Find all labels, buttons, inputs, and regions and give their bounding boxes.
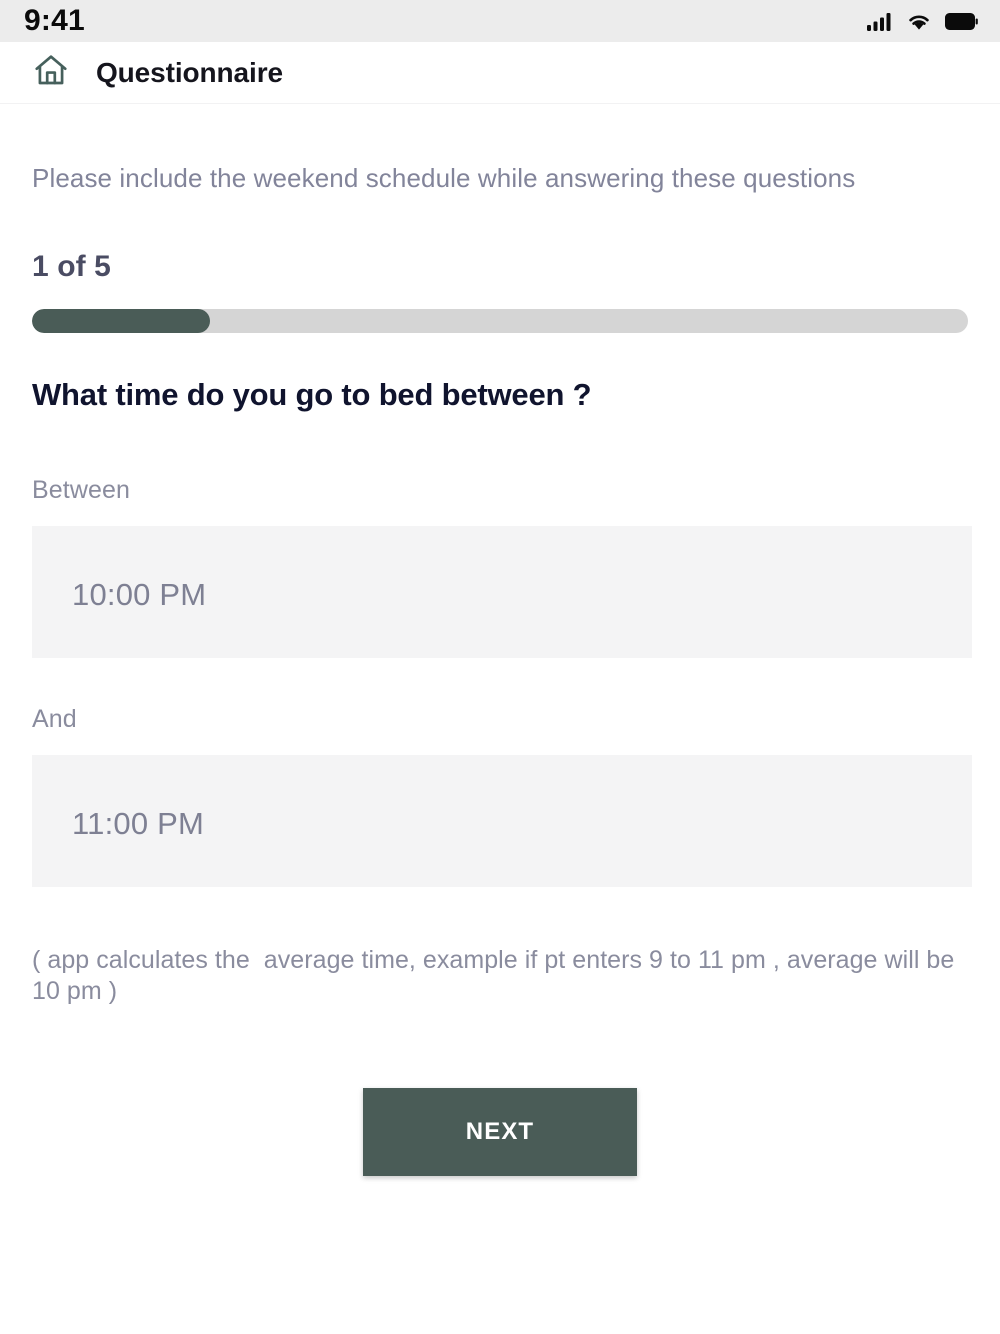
step-counter: 1 of 5 bbox=[32, 250, 1000, 284]
status-time: 9:41 bbox=[24, 6, 85, 36]
page-title: Questionnaire bbox=[96, 57, 283, 89]
question-text: What time do you go to bed between ? bbox=[32, 377, 968, 413]
and-time-value: 11:00 PM bbox=[72, 800, 204, 842]
signal-icon bbox=[867, 12, 893, 31]
home-icon bbox=[32, 51, 70, 94]
and-field-label: And bbox=[32, 705, 1000, 734]
between-field-label: Between bbox=[32, 476, 1000, 505]
wifi-icon bbox=[906, 12, 932, 31]
app-screen: 9:41 bbox=[0, 0, 1000, 1334]
main-content: Please include the weekend schedule whil… bbox=[0, 105, 1000, 1176]
progress-bar bbox=[32, 309, 968, 333]
next-button[interactable]: NEXT bbox=[363, 1088, 637, 1176]
battery-icon bbox=[945, 12, 978, 31]
status-bar: 9:41 bbox=[0, 0, 1000, 42]
status-icons bbox=[867, 12, 978, 31]
home-button[interactable] bbox=[28, 50, 74, 96]
between-time-value: 10:00 PM bbox=[72, 571, 206, 613]
helper-text: ( app calculates the average time, examp… bbox=[32, 945, 968, 1008]
between-time-input[interactable]: 10:00 PM bbox=[32, 526, 972, 658]
and-time-input[interactable]: 11:00 PM bbox=[32, 755, 972, 887]
app-bar: Questionnaire bbox=[0, 42, 1000, 104]
progress-bar-fill bbox=[32, 309, 210, 333]
next-button-row: NEXT bbox=[0, 1088, 1000, 1176]
instruction-text: Please include the weekend schedule whil… bbox=[32, 162, 968, 196]
